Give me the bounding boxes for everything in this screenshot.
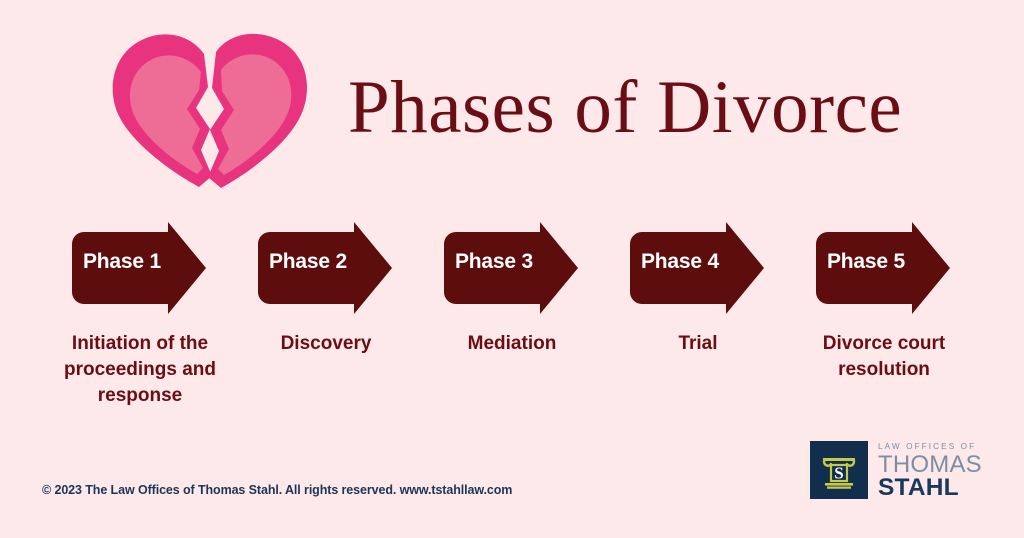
phase-caption-3: Mediation <box>426 331 598 357</box>
phase-caption-1: Initiation of the proceedings and respon… <box>54 331 226 409</box>
phase-badge-5: Phase 5 <box>827 249 923 275</box>
phase-arrow-2: Phase 2 <box>258 218 394 318</box>
phase-item-4: Phase 4 Trial <box>630 218 816 428</box>
phase-item-1: Phase 1 Initiation of the proceedings an… <box>72 218 258 428</box>
logo-lastname: STAHL <box>878 476 998 500</box>
copyright-text: © 2023 The Law Offices of Thomas Stahl. … <box>42 483 512 497</box>
phase-arrow-5: Phase 5 <box>816 218 952 318</box>
phase-badge-4: Phase 4 <box>641 249 737 275</box>
logo-wordmark: LAW OFFICES OF THOMAS STAHL <box>878 441 998 500</box>
phase-caption-2: Discovery <box>240 331 412 357</box>
brand-logo: S LAW OFFICES OF THOMAS STAHL <box>810 441 996 501</box>
broken-heart-icon <box>104 30 314 190</box>
phase-caption-5: Divorce court resolution <box>798 331 970 383</box>
phase-badge-3: Phase 3 <box>455 249 551 275</box>
phase-badge-1: Phase 1 <box>83 249 179 275</box>
infographic-canvas: Phases of Divorce Phase 1 Initiation of … <box>0 0 1024 538</box>
phase-item-5: Phase 5 Divorce court resolution <box>816 218 1002 428</box>
column-monogram-icon: S <box>810 441 868 499</box>
phase-caption-4: Trial <box>612 331 784 357</box>
phase-arrow-4: Phase 4 <box>630 218 766 318</box>
page-title: Phases of Divorce <box>348 62 928 154</box>
phase-badge-2: Phase 2 <box>269 249 365 275</box>
phase-item-3: Phase 3 Mediation <box>444 218 630 428</box>
logo-firstname: THOMAS <box>878 453 998 476</box>
svg-text:S: S <box>834 464 843 483</box>
phase-arrow-3: Phase 3 <box>444 218 580 318</box>
phase-arrow-1: Phase 1 <box>72 218 208 318</box>
phases-row: Phase 1 Initiation of the proceedings an… <box>0 218 1024 428</box>
phase-item-2: Phase 2 Discovery <box>258 218 444 428</box>
